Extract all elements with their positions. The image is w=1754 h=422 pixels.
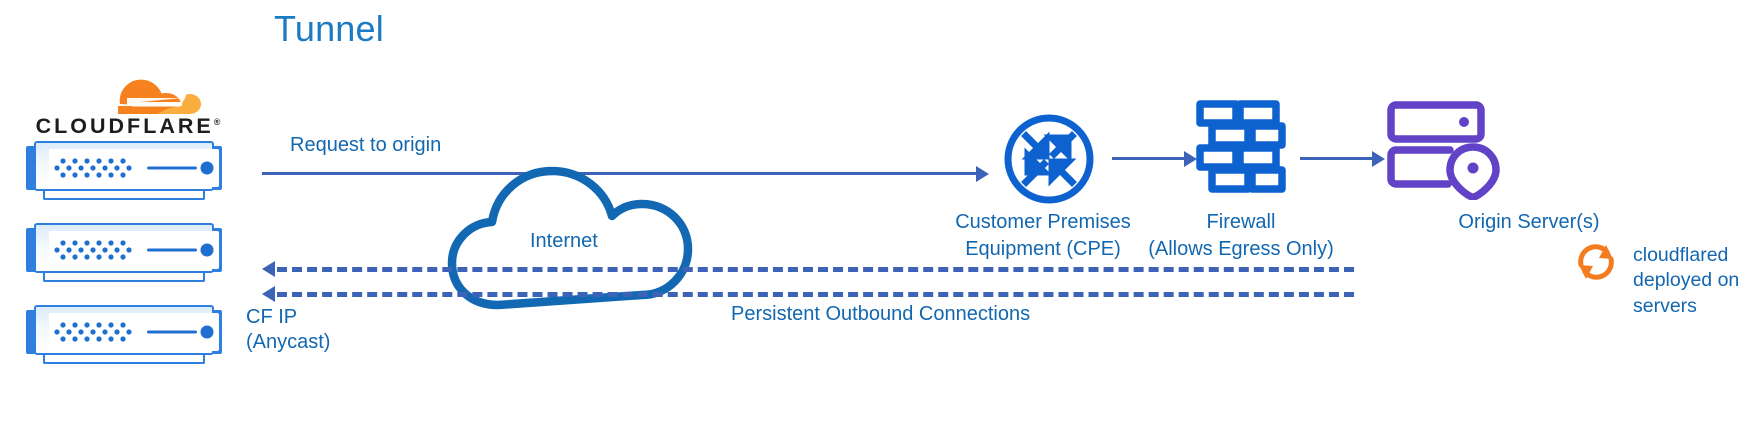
page-title: Tunnel [274, 8, 384, 50]
cloudflare-wordmark-text: CLOUDFLARE [36, 114, 214, 138]
rack-body [34, 141, 214, 191]
cloudflared-sync-glyph [1573, 239, 1619, 285]
cloudflared-note: cloudflared deployed on servers [1633, 243, 1754, 319]
firewall-label: Firewall (Allows Egress Only) [1111, 209, 1371, 262]
rack-face [49, 313, 219, 351]
request-to-origin-label: Request to origin [290, 134, 441, 158]
persistent-outbound-label: Persistent Outbound Connections [731, 303, 1030, 327]
rack-body [34, 305, 214, 355]
firewall-brick-glyph [1196, 100, 1286, 196]
persistent-outbound-arrowhead-bottom [262, 286, 275, 302]
firewall-to-origin-line [1300, 157, 1374, 160]
origin-server-label: Origin Server(s) [1409, 209, 1649, 236]
rack-vents-icon [49, 313, 219, 351]
cf-ip-label-line2: (Anycast) [246, 331, 330, 355]
rack-vents-icon [49, 149, 219, 187]
server-location-pin-icon [1386, 100, 1506, 200]
trademark-symbol: ® [214, 117, 221, 127]
cpe-to-firewall-line [1112, 157, 1186, 160]
cloudflare-logo: CLOUDFLARE® [32, 76, 224, 142]
rack-face [49, 149, 219, 187]
brick-wall-icon [1196, 100, 1286, 196]
server-rack-icon [26, 222, 222, 284]
persistent-outbound-line-bottom [277, 292, 1354, 297]
internet-label: Internet [530, 230, 598, 253]
rack-vents-icon [49, 231, 219, 269]
server-rack-icon [26, 140, 222, 202]
refresh-sync-icon [1573, 239, 1619, 285]
persistent-outbound-arrowhead-top [262, 261, 275, 277]
rack-face [49, 231, 219, 269]
rack-body [34, 223, 214, 273]
router-arrows-circle-icon [1002, 112, 1096, 206]
request-to-origin-arrowhead [976, 166, 989, 182]
cloudflare-wordmark: CLOUDFLARE® [32, 114, 224, 139]
cf-ip-label-line1: CF IP [246, 306, 297, 330]
firewall-to-origin-arrowhead [1372, 151, 1385, 167]
origin-server-glyph [1386, 100, 1506, 200]
cpe-router-glyph [1002, 112, 1096, 206]
server-rack-icon [26, 304, 222, 366]
diagram-canvas: Tunnel CLOUDFLARE® [0, 0, 1754, 422]
persistent-outbound-line-top [277, 267, 1354, 272]
